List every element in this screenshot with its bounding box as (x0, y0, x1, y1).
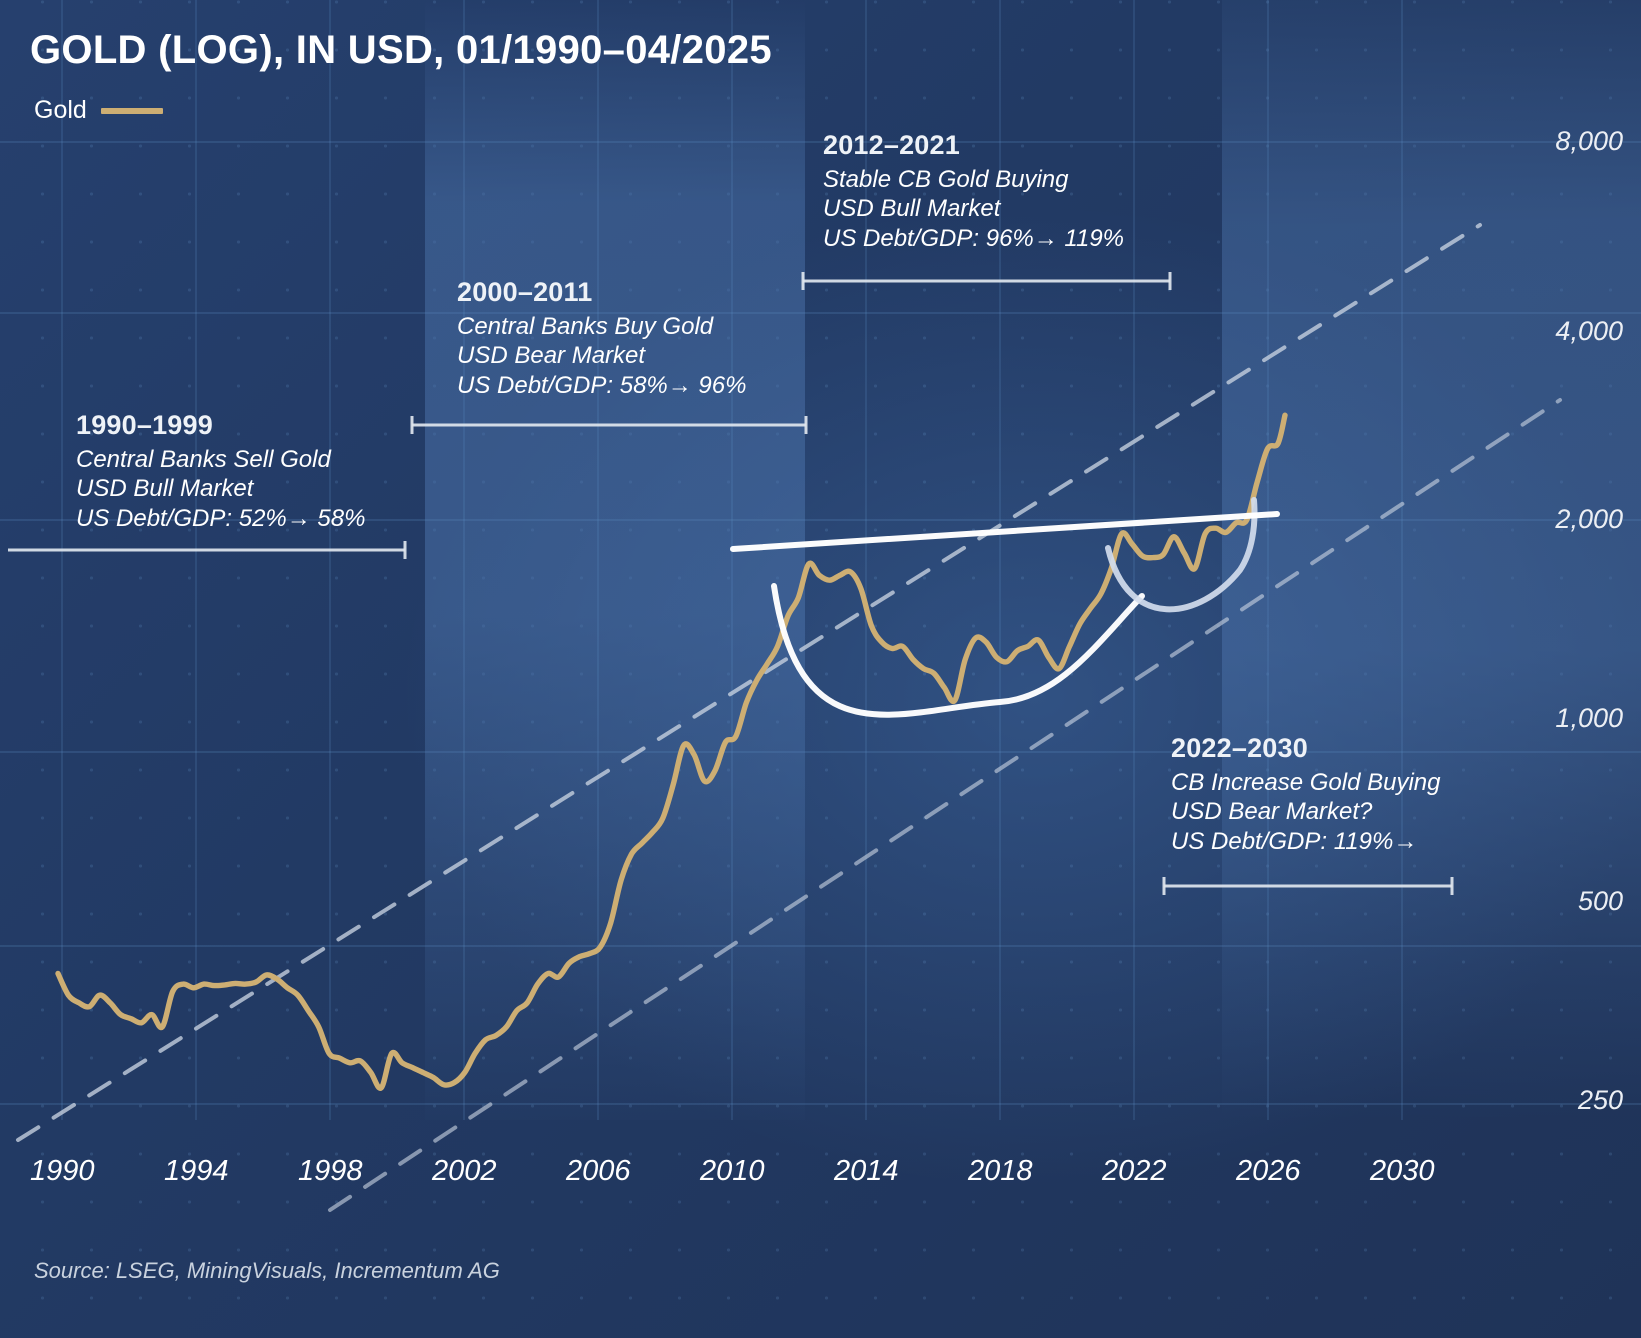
annotation-line-1: Central Banks Buy Gold (457, 312, 746, 341)
x-axis-tick-2014: 2014 (834, 1155, 899, 1188)
x-axis-tick-1990: 1990 (30, 1155, 95, 1188)
page-title: GOLD (LOG), IN USD, 01/1990–04/2025 (30, 28, 772, 73)
annotation-line-2: USD Bear Market? (1171, 797, 1440, 826)
neckline (733, 514, 1277, 549)
annotation-line-2: USD Bear Market (457, 341, 746, 370)
bracket-2012-2021 (803, 272, 1170, 290)
annotation-1990-1999: 1990–1999 Central Banks Sell Gold USD Bu… (76, 410, 365, 533)
vertical-gridlines (62, 0, 1402, 1120)
x-axis-tick-1994: 1994 (164, 1155, 229, 1188)
legend-line-swatch-icon (101, 108, 163, 114)
x-axis-tick-2002: 2002 (432, 1155, 497, 1188)
x-axis-tick-2030: 2030 (1370, 1155, 1435, 1188)
shaded-band-2022-2030 (1222, 0, 1641, 1120)
annotation-title: 2022–2030 (1171, 733, 1440, 764)
bracket-1990-1999 (8, 541, 405, 559)
shaded-band-2000-2011 (425, 0, 805, 1120)
annotation-line-2: USD Bull Market (76, 474, 365, 503)
annotation-title: 2012–2021 (823, 130, 1124, 161)
annotation-line-1: CB Increase Gold Buying (1171, 768, 1440, 797)
annotation-line-3: US Debt/GDP: 58%→ 96% (457, 371, 746, 400)
annotation-title: 2000–2011 (457, 277, 746, 308)
annotation-line-1: Central Banks Sell Gold (76, 445, 365, 474)
source-caption: Source: LSEG, MiningVisuals, Incrementum… (34, 1258, 500, 1284)
x-axis-tick-2022: 2022 (1102, 1155, 1167, 1188)
annotation-2022-2030: 2022–2030 CB Increase Gold Buying USD Be… (1171, 733, 1440, 856)
y-axis-tick-1000: 1,000 (1555, 703, 1623, 734)
x-axis-tick-2018: 2018 (968, 1155, 1033, 1188)
annotation-line-3: US Debt/GDP: 119%→ (1171, 827, 1440, 856)
chart-plot-layer (0, 0, 1641, 1338)
annotation-line-2: USD Bull Market (823, 194, 1124, 223)
y-axis-tick-4000: 4,000 (1555, 316, 1623, 347)
chart-legend[interactable]: Gold (34, 96, 163, 125)
y-axis-tick-2000: 2,000 (1555, 504, 1623, 535)
chart-canvas: GOLD (LOG), IN USD, 01/1990–04/2025 Gold… (0, 0, 1641, 1338)
annotation-2012-2021: 2012–2021 Stable CB Gold Buying USD Bull… (823, 130, 1124, 253)
y-axis-tick-500: 500 (1578, 886, 1623, 917)
annotation-line-1: Stable CB Gold Buying (823, 165, 1124, 194)
y-axis-tick-250: 250 (1578, 1085, 1623, 1116)
legend-item-label: Gold (34, 96, 87, 125)
x-axis-tick-1998: 1998 (298, 1155, 363, 1188)
x-axis-tick-2006: 2006 (566, 1155, 631, 1188)
x-axis-tick-2010: 2010 (700, 1155, 765, 1188)
annotation-2000-2011: 2000–2011 Central Banks Buy Gold USD Bea… (457, 277, 746, 400)
annotation-line-3: US Debt/GDP: 96%→ 119% (823, 224, 1124, 253)
annotation-line-3: US Debt/GDP: 52%→ 58% (76, 504, 365, 533)
x-axis-tick-2026: 2026 (1236, 1155, 1301, 1188)
y-axis-tick-8000: 8,000 (1555, 126, 1623, 157)
annotation-title: 1990–1999 (76, 410, 365, 441)
